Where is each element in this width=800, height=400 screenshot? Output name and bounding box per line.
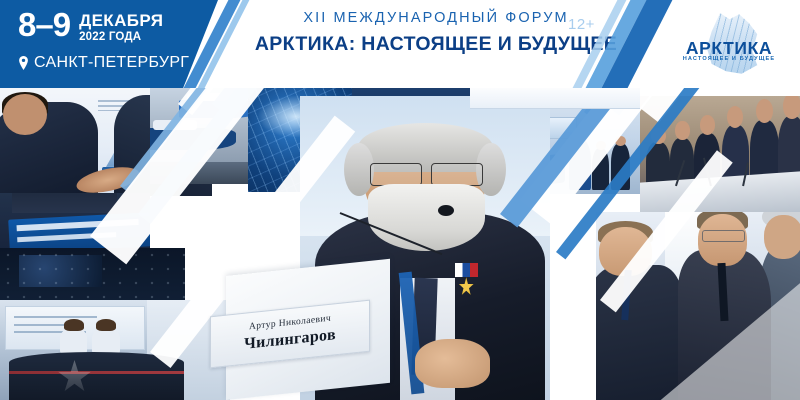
arktika-logo[interactable]: АРКТИКА НАСТОЯЩЕЕ И БУДУЩЕЕ bbox=[668, 14, 790, 76]
photo-roundtable-panel bbox=[640, 96, 800, 218]
photo-two-officials-portrait bbox=[596, 212, 800, 400]
banner-header: 8–9 ДЕКАБРЯ 2022 ГОДА САНКТ-ПЕТЕРБУРГ XI… bbox=[0, 0, 800, 88]
forum-promo-banner: Артур Николаевич Чилингаров 8–9 bbox=[0, 0, 800, 400]
event-year: 2022 ГОДА bbox=[79, 32, 163, 44]
hero-star-medal-icon bbox=[455, 263, 478, 296]
event-days: 8–9 bbox=[18, 9, 70, 41]
forum-title: АРКТИКА: НАСТОЯЩЕЕ И БУДУЩЕЕ bbox=[236, 33, 636, 56]
logo-tagline: НАСТОЯЩЕЕ И БУДУЩЕЕ bbox=[668, 56, 790, 62]
event-city: САНКТ-ПЕТЕРБУРГ bbox=[34, 54, 189, 72]
event-month: ДЕКАБРЯ bbox=[79, 12, 163, 29]
eyeglasses-icon bbox=[370, 163, 483, 184]
age-rating-badge: 12+ bbox=[568, 16, 595, 33]
photo-exhibition-stand-star bbox=[0, 300, 230, 400]
map-pin-icon bbox=[18, 56, 29, 70]
event-date-card: 8–9 ДЕКАБРЯ 2022 ГОДА САНКТ-ПЕТЕРБУРГ bbox=[0, 0, 218, 88]
